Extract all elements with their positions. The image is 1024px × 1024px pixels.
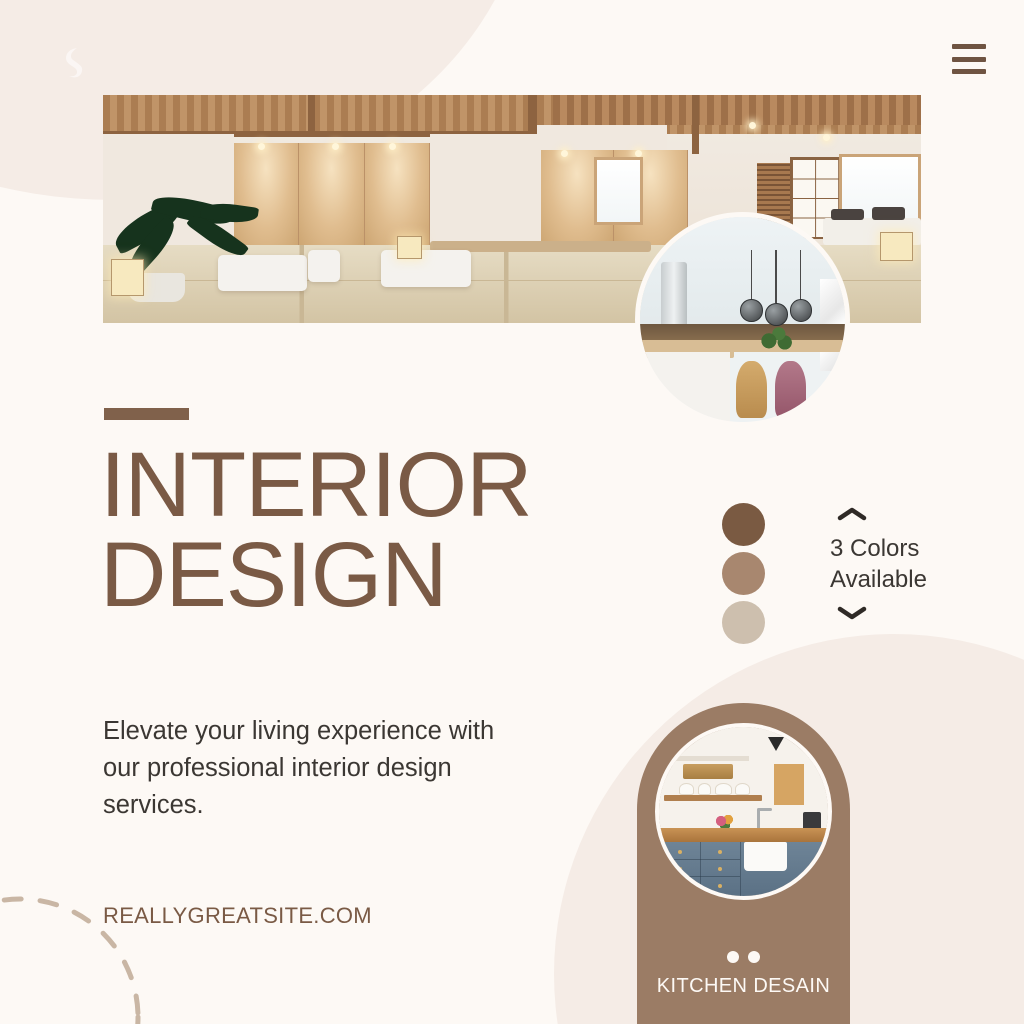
website-url[interactable]: REALLYGREATSITE.COM bbox=[103, 903, 372, 929]
title-accent-bar bbox=[104, 408, 189, 420]
menu-bar-1 bbox=[952, 44, 986, 49]
poster-canvas: INTERIOR DESIGN Elevate your living expe… bbox=[0, 0, 1024, 1024]
color-swatch-light-beige[interactable] bbox=[722, 601, 765, 644]
kitchen-card-photo bbox=[655, 723, 832, 900]
circular-kitchen-photo bbox=[635, 212, 850, 427]
card-indicator-dots bbox=[637, 951, 850, 963]
menu-bar-2 bbox=[952, 57, 986, 62]
kitchen-card-title: KITCHEN DESAIN bbox=[637, 975, 850, 998]
menu-bar-3 bbox=[952, 69, 986, 74]
swirl-logo-icon[interactable] bbox=[58, 44, 88, 80]
hamburger-menu-icon[interactable] bbox=[952, 44, 986, 74]
indicator-dot-2[interactable] bbox=[748, 951, 760, 963]
color-swatch-medium-tan[interactable] bbox=[722, 552, 765, 595]
color-stepper: 3 Colors Available bbox=[826, 503, 941, 624]
color-swatch-list bbox=[722, 503, 765, 644]
chevron-up-icon[interactable] bbox=[834, 503, 870, 525]
page-title: INTERIOR DESIGN bbox=[100, 440, 660, 620]
hero-description: Elevate your living experience with our … bbox=[103, 713, 503, 824]
color-swatch-dark-brown[interactable] bbox=[722, 503, 765, 546]
indicator-dot-1[interactable] bbox=[727, 951, 739, 963]
chevron-down-icon[interactable] bbox=[834, 602, 870, 624]
color-count-label: 3 Colors Available bbox=[830, 534, 927, 595]
kitchen-design-card[interactable]: KITCHEN DESAIN bbox=[637, 703, 850, 1024]
